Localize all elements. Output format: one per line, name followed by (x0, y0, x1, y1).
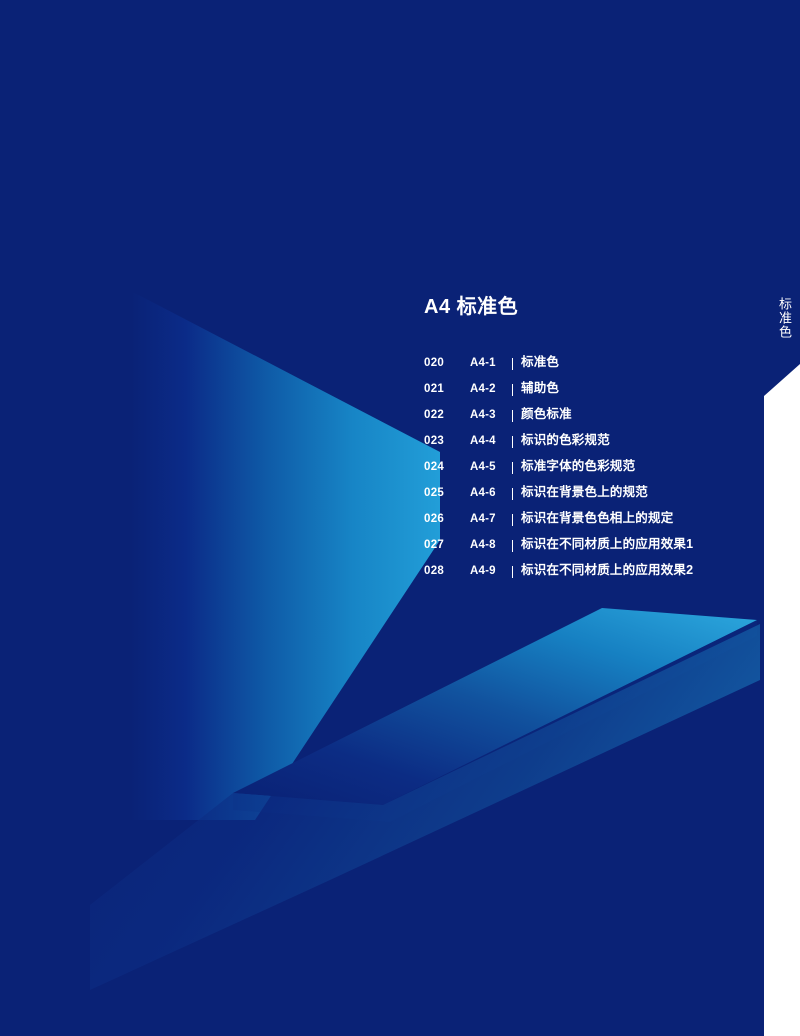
list-item[interactable]: 027 A4-8 标识在不同材质上的应用效果1 (424, 533, 754, 559)
list-item[interactable]: 026 A4-7 标识在背景色色相上的规定 (424, 507, 754, 533)
side-index-tab[interactable]: 标准色 (764, 0, 800, 396)
list-item[interactable]: 021 A4-2 辅助色 (424, 377, 754, 403)
page-title: A4 标准色 (424, 290, 754, 319)
toc-label: 辅助色 (521, 377, 559, 396)
toc-number: 025 (424, 487, 470, 499)
divider-page: A4 标准色 020 A4-1 标准色 021 A4-2 辅助色 022 A4-… (0, 0, 800, 1036)
list-item[interactable]: 023 A4-4 标识的色彩规范 (424, 429, 754, 455)
toc-label: 颜色标准 (521, 403, 572, 422)
section-content: A4 标准色 020 A4-1 标准色 021 A4-2 辅助色 022 A4-… (424, 290, 754, 585)
toc-separator-icon (512, 566, 513, 578)
toc-separator-icon (512, 410, 513, 422)
toc-code: A4-7 (470, 513, 510, 525)
lower-gradient-band (233, 608, 757, 805)
toc-separator-icon (512, 488, 513, 500)
list-item[interactable]: 028 A4-9 标识在不同材质上的应用效果2 (424, 559, 754, 585)
toc-code: A4-9 (470, 565, 510, 577)
list-item[interactable]: 025 A4-6 标识在背景色上的规范 (424, 481, 754, 507)
toc-code: A4-6 (470, 487, 510, 499)
lower-gradient-shadow (233, 620, 757, 822)
toc-number: 026 (424, 513, 470, 525)
toc-number: 024 (424, 461, 470, 473)
toc-label: 标识在背景色上的规范 (521, 481, 648, 500)
upper-gradient-wedge (130, 292, 440, 820)
list-item[interactable]: 020 A4-1 标准色 (424, 351, 754, 377)
toc-number: 021 (424, 383, 470, 395)
toc-code: A4-8 (470, 539, 510, 551)
toc-number: 028 (424, 565, 470, 577)
list-item[interactable]: 024 A4-5 标准字体的色彩规范 (424, 455, 754, 481)
toc-code: A4-3 (470, 409, 510, 421)
toc-number: 022 (424, 409, 470, 421)
toc-code: A4-4 (470, 435, 510, 447)
toc-separator-icon (512, 436, 513, 448)
toc-separator-icon (512, 462, 513, 474)
toc-label: 标识在背景色色相上的规定 (521, 507, 673, 526)
side-tab-label: 标准色 (771, 12, 793, 339)
toc-number: 020 (424, 357, 470, 369)
lower-gradient-sheet (90, 624, 760, 990)
toc-label: 标识在不同材质上的应用效果1 (521, 533, 693, 552)
toc-number: 023 (424, 435, 470, 447)
toc-code: A4-5 (470, 461, 510, 473)
side-tab-notch (764, 360, 800, 396)
toc-label: 标准字体的色彩规范 (521, 455, 635, 474)
toc-code: A4-2 (470, 383, 510, 395)
page-background: A4 标准色 020 A4-1 标准色 021 A4-2 辅助色 022 A4-… (0, 0, 764, 1036)
toc-list: 020 A4-1 标准色 021 A4-2 辅助色 022 A4-3 颜色标准 (424, 351, 754, 585)
toc-number: 027 (424, 539, 470, 551)
toc-label: 标识的色彩规范 (521, 429, 610, 448)
toc-separator-icon (512, 540, 513, 552)
toc-separator-icon (512, 384, 513, 396)
toc-separator-icon (512, 358, 513, 370)
toc-label: 标准色 (521, 351, 559, 370)
toc-code: A4-1 (470, 357, 510, 369)
toc-separator-icon (512, 514, 513, 526)
list-item[interactable]: 022 A4-3 颜色标准 (424, 403, 754, 429)
toc-label: 标识在不同材质上的应用效果2 (521, 559, 693, 578)
